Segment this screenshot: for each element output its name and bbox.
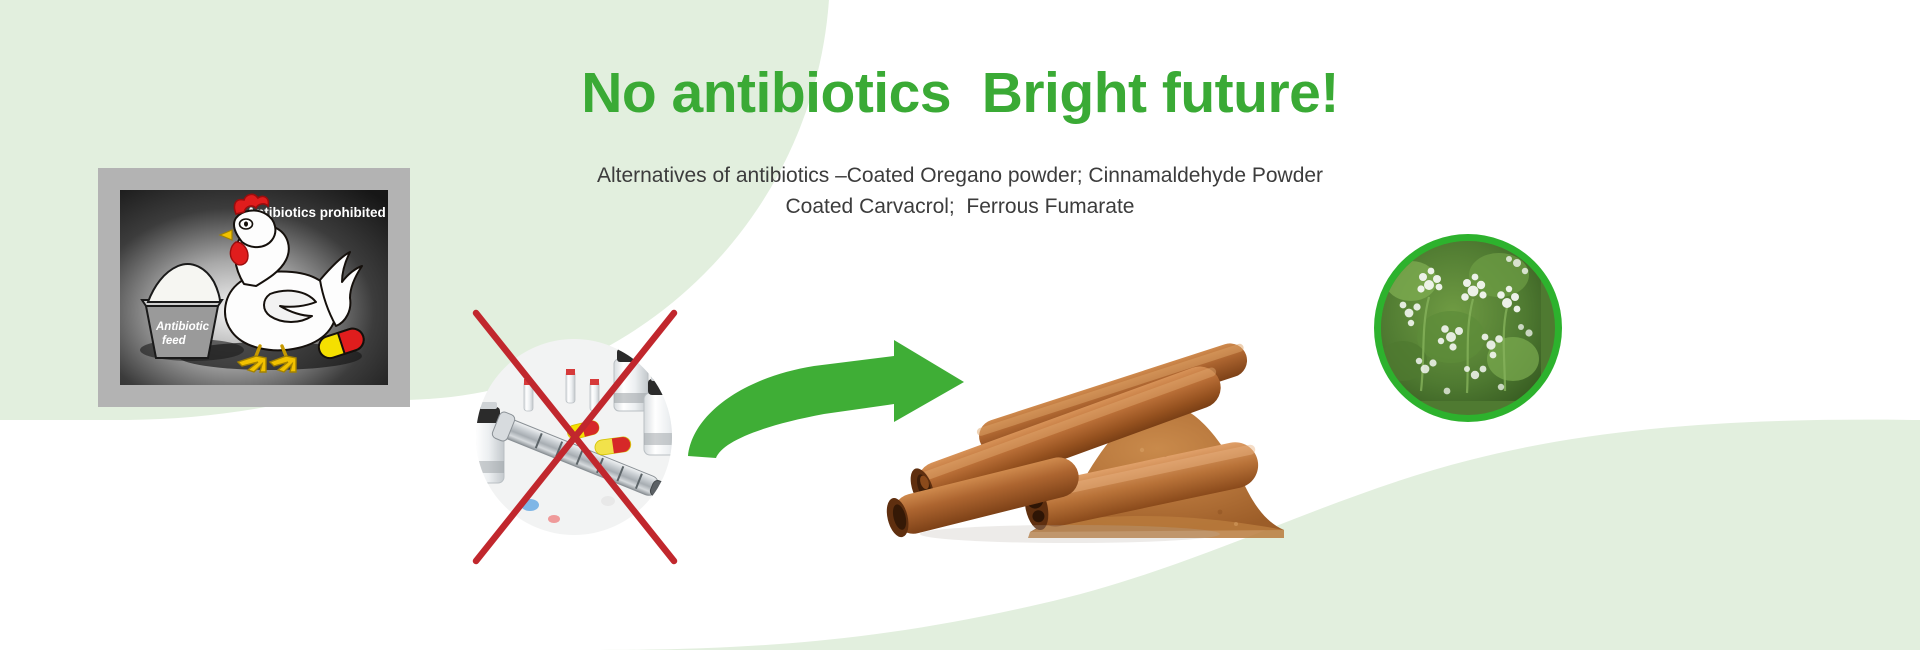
crossed-out-drugs-image: [462, 305, 702, 565]
subtitle-line-1: Alternatives of antibiotics –Coated Oreg…: [0, 160, 1920, 191]
feed-label-line-2: feed: [162, 335, 187, 347]
page-title: No antibiotics Bright future!: [0, 60, 1920, 126]
feed-label-line-1: Antibiotic: [155, 321, 210, 333]
oregano-plant-image: [1374, 234, 1562, 422]
subtitle-line-2: Coated Carvacrol; Ferrous Fumarate: [0, 191, 1920, 222]
promo-banner: No antibiotics Bright future! Alternativ…: [0, 0, 1920, 650]
subtitle: Alternatives of antibiotics –Coated Oreg…: [0, 160, 1920, 222]
curved-right-arrow-icon: [686, 338, 966, 458]
